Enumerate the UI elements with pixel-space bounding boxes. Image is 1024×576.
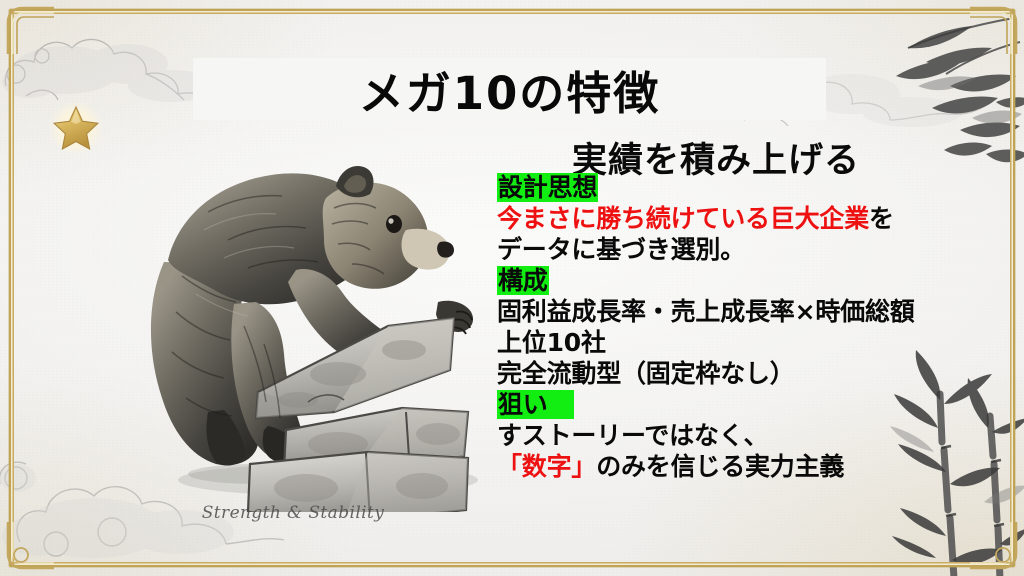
section-heading-highlight: 設計思想 bbox=[497, 173, 598, 202]
body-text-emphasis: 「数字」 bbox=[497, 452, 596, 481]
section-heading-highlight: 構成 bbox=[497, 266, 549, 295]
body-text: 完全流動型（固定枠なし） bbox=[497, 359, 795, 388]
page-title: メガ10の特徴 bbox=[193, 56, 826, 122]
body-text-emphasis: 今まさに勝ち続けている巨大企業 bbox=[497, 204, 869, 233]
body-line: すストーリーではなく、 bbox=[497, 420, 967, 451]
section-heading-design-philosophy: 設計思想 bbox=[497, 172, 967, 203]
body-text: のみを信じる実力主義 bbox=[596, 452, 844, 481]
slide-canvas: Strength & Stability メガ10の特徴 実績を積み上げる 設計… bbox=[0, 0, 1024, 576]
body-text: すストーリーではなく、 bbox=[497, 421, 768, 450]
body-line: 今まさに勝ち続けている巨大企業を bbox=[497, 203, 967, 234]
body-text: 上位10社 bbox=[497, 328, 606, 357]
illustration-caption: Strength & Stability bbox=[168, 503, 418, 523]
body-text: データに基づき選別。 bbox=[497, 235, 745, 264]
body-line: 完全流動型（固定枠なし） bbox=[497, 358, 967, 389]
section-heading-aim: 狙い bbox=[497, 389, 967, 420]
body-content: 設計思想 今まさに勝ち続けている巨大企業を データに基づき選別。 構成 固利益成… bbox=[497, 172, 967, 482]
section-heading-composition: 構成 bbox=[497, 265, 967, 296]
body-line: データに基づき選別。 bbox=[497, 234, 967, 265]
body-text: 固利益成長率・売上成長率×時価総額 bbox=[497, 297, 915, 326]
body-line: 「数字」のみを信じる実力主義 bbox=[497, 451, 967, 482]
body-line: 上位10社 bbox=[497, 327, 967, 358]
body-text: を bbox=[869, 204, 894, 233]
section-heading-highlight: 狙い bbox=[497, 390, 574, 419]
body-line: 固利益成長率・売上成長率×時価総額 bbox=[497, 296, 967, 327]
